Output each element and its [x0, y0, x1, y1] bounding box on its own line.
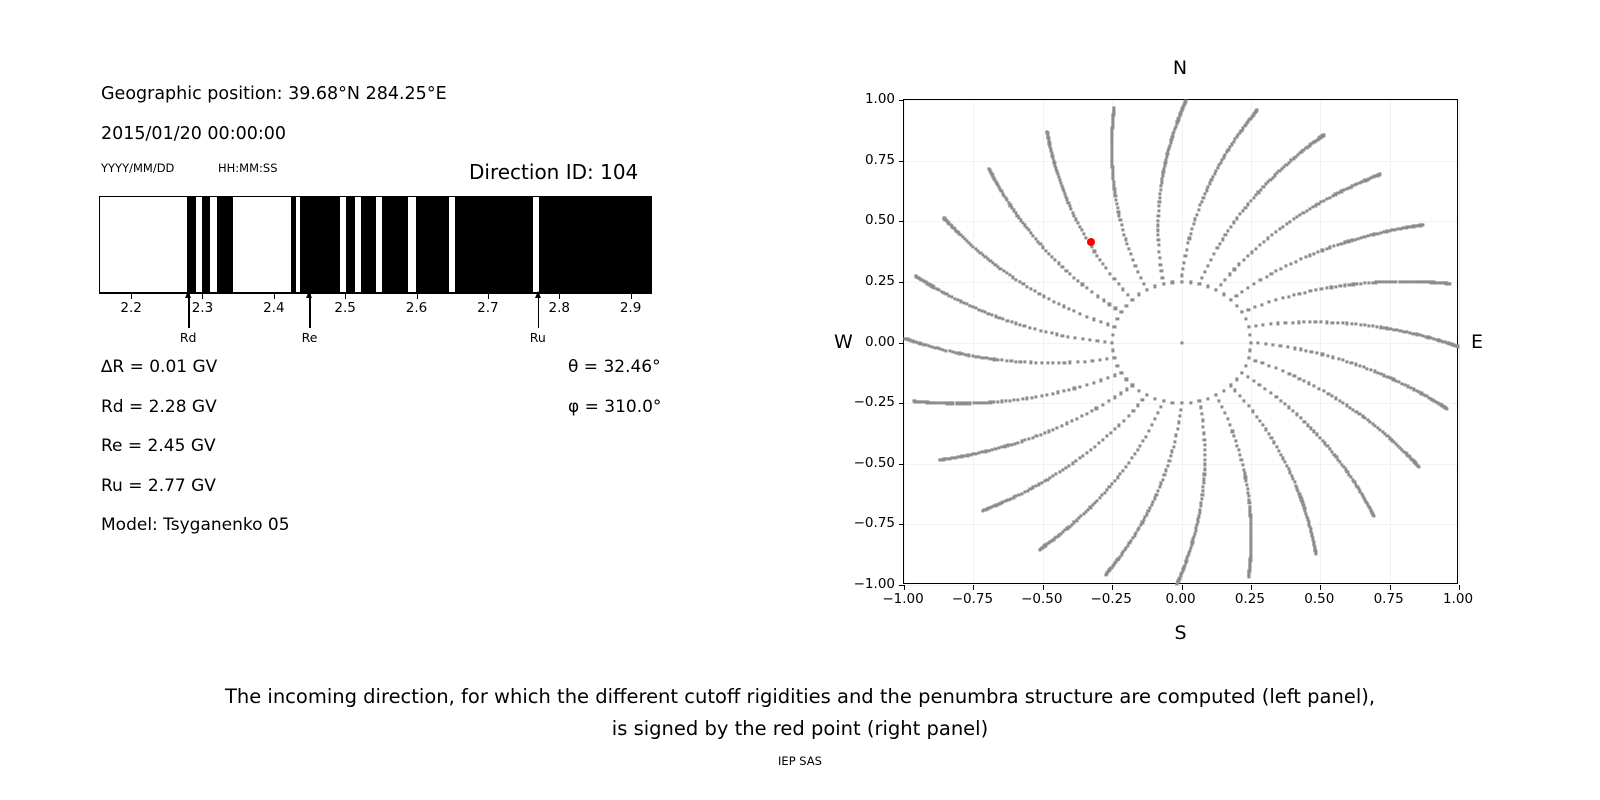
scatter-point: [1111, 174, 1114, 177]
scatter-point: [1360, 282, 1363, 285]
scatter-point: [1125, 304, 1128, 307]
scatter-point: [1051, 475, 1054, 478]
scatter-point: [1075, 459, 1078, 462]
scatter-point: [1020, 440, 1023, 443]
scatter-point: [1246, 254, 1249, 257]
scatter-point: [1320, 288, 1323, 291]
scatter-point: [1247, 286, 1250, 289]
scatter-point: [1223, 278, 1226, 281]
scatter-point: [1172, 445, 1175, 448]
scatter-point: [1163, 164, 1166, 167]
scatter-point: [1175, 434, 1178, 437]
scatter-point: [1421, 224, 1424, 227]
scatter-point: [1202, 482, 1205, 485]
scatter-point: [1120, 371, 1123, 374]
scatter-point: [1155, 493, 1158, 496]
scatter-point: [1168, 459, 1171, 462]
scatter-point: [1141, 440, 1144, 443]
scatter-point: [1111, 482, 1114, 485]
x-axis-tick: [1390, 585, 1391, 590]
scatter-point: [1182, 267, 1185, 270]
scatter-point: [1303, 291, 1306, 294]
scatter-point: [1078, 225, 1081, 228]
scatter-point: [1240, 371, 1243, 374]
x-axis-tick: [1112, 585, 1113, 590]
gridline-horizontal: [904, 161, 1457, 162]
scatter-point: [943, 402, 946, 405]
scatter-point: [1110, 147, 1113, 150]
scatter-point: [1252, 379, 1255, 382]
scatter-point: [1334, 397, 1337, 400]
scatter-point: [987, 312, 990, 315]
axis-tick: [488, 293, 489, 299]
scatter-point: [1201, 276, 1204, 279]
scatter-point: [1216, 247, 1219, 250]
scatter-point: [1176, 582, 1179, 585]
scatter-point: [1050, 332, 1053, 335]
scatter-point: [1076, 360, 1079, 363]
penumbra-band: [382, 197, 407, 292]
gridline-vertical: [973, 100, 974, 583]
scatter-point: [1249, 341, 1252, 344]
scatter-point: [1019, 360, 1022, 363]
scatter-point: [1076, 417, 1079, 420]
scatter-point: [1023, 490, 1026, 493]
scatter-point: [1247, 308, 1250, 311]
scatter-point: [955, 402, 958, 405]
scatter-point: [1254, 247, 1257, 250]
scatter-point: [1078, 457, 1081, 460]
scatter-point: [1201, 419, 1204, 422]
scatter-point: [1223, 411, 1226, 414]
axis-tick-label: 2.4: [263, 300, 284, 316]
scatter-point: [1203, 468, 1206, 471]
scatter-point: [1067, 201, 1070, 204]
scatter-point: [1015, 278, 1018, 281]
scatter-point: [1268, 301, 1271, 304]
scatter-point: [1004, 399, 1007, 402]
scatter-point: [1154, 418, 1157, 421]
scatter-point: [1125, 378, 1128, 381]
scatter-point: [962, 301, 965, 304]
scatter-point: [1160, 184, 1163, 187]
scatter-point: [1016, 441, 1019, 444]
scatter-point: [1171, 281, 1174, 284]
scatter-point: [1270, 272, 1273, 275]
scatter-point: [1080, 229, 1083, 232]
scatter-point: [1222, 293, 1225, 296]
scatter-point: [1071, 419, 1074, 422]
scatter-point: [1038, 292, 1041, 295]
scatter-point: [1247, 357, 1250, 360]
scatter-canvas: [904, 100, 1457, 583]
axis-tick: [202, 293, 203, 299]
scatter-point: [1205, 189, 1208, 192]
scatter-point: [1234, 439, 1237, 442]
gridline-vertical: [904, 100, 905, 583]
scatter-point: [1275, 270, 1278, 273]
scatter-point: [1101, 403, 1104, 406]
scatter-point: [1096, 254, 1099, 257]
gridline-horizontal: [904, 464, 1457, 465]
scatter-point: [1233, 221, 1236, 224]
arrow-up-icon: [185, 291, 191, 298]
scatter-point: [1055, 473, 1058, 476]
scatter-point: [1103, 340, 1106, 343]
scatter-point: [1233, 434, 1236, 437]
scatter-point: [1056, 426, 1059, 429]
scatter-point: [1299, 416, 1302, 419]
x-axis-tick-label: 0.00: [1165, 591, 1195, 607]
scatter-point: [1020, 492, 1023, 495]
scatter-point: [1197, 208, 1200, 211]
scatter-point: [1346, 322, 1349, 325]
scatter-point: [1448, 282, 1451, 285]
scatter-point: [1275, 396, 1278, 399]
x-axis-tick: [1459, 585, 1460, 590]
scatter-point: [1021, 397, 1024, 400]
time-format-hint: HH:MM:SS: [218, 161, 278, 175]
scatter-point: [1264, 342, 1267, 345]
scatter-point: [975, 402, 978, 405]
penumbra-band: [455, 197, 533, 292]
scatter-point: [1055, 333, 1058, 336]
scatter-point: [1162, 399, 1165, 402]
scatter-point: [1237, 449, 1240, 452]
scatter-point: [1099, 320, 1102, 323]
scatter-point: [1027, 437, 1030, 440]
scatter-point: [1208, 182, 1211, 185]
scatter-point: [1229, 384, 1232, 387]
scatter-point: [1203, 443, 1206, 446]
scatter-point: [1235, 294, 1238, 297]
y-axis-tick-label: −1.00: [847, 576, 895, 592]
scatter-point: [1350, 322, 1353, 325]
scatter-point: [1113, 357, 1116, 360]
scatter-point: [1304, 349, 1307, 352]
scatter-point: [1092, 381, 1095, 384]
scatter-point: [1043, 431, 1046, 434]
scatter-point: [1262, 240, 1265, 243]
scatter-point: [1375, 325, 1378, 328]
scatter-point: [1109, 272, 1112, 275]
scatter-point: [1189, 281, 1192, 284]
scatter-point: [1068, 361, 1071, 364]
scatter-point: [1113, 187, 1116, 190]
scatter-point: [1314, 552, 1317, 555]
scatter-point: [1188, 237, 1191, 240]
scatter-point: [1206, 285, 1209, 288]
axis-tick-label: 2.7: [477, 300, 498, 316]
parameter-line: Rd = 2.28 GV: [101, 397, 217, 417]
scatter-point: [1083, 360, 1086, 363]
scatter-point: [1247, 404, 1250, 407]
arrow-label: Ru: [530, 330, 546, 345]
scatter-point: [1038, 548, 1041, 551]
scatter-point: [1184, 254, 1187, 257]
scatter-point: [1198, 282, 1201, 285]
scatter-point: [1203, 458, 1206, 461]
scatter-point: [933, 346, 936, 349]
scatter-point: [1047, 430, 1050, 433]
axis-tick: [631, 293, 632, 299]
scatter-point: [1156, 489, 1159, 492]
scatter-point: [1213, 172, 1216, 175]
scatter-point: [1253, 282, 1256, 285]
scatter-point: [1258, 383, 1261, 386]
gridline-horizontal: [904, 585, 1457, 586]
scatter-point: [1057, 391, 1060, 394]
scatter-point: [1218, 242, 1221, 245]
figure-caption: The incoming direction, for which the di…: [0, 681, 1600, 745]
scatter-point: [1007, 444, 1010, 447]
scatter-point: [1273, 441, 1276, 444]
scatter-point: [1111, 168, 1114, 171]
scatter-point: [1096, 339, 1099, 342]
scatter-point: [1221, 405, 1224, 408]
scatter-point: [1341, 359, 1344, 362]
scatter-point: [962, 402, 965, 405]
scatter-point: [1082, 454, 1085, 457]
scatter-point: [964, 353, 967, 356]
scatter-point: [1157, 239, 1160, 242]
scatter-point: [1085, 452, 1088, 455]
scatter-point: [1267, 432, 1270, 435]
scatter-point: [1346, 360, 1349, 363]
scatter-point: [1169, 141, 1172, 144]
parameter-line: ∆R = 0.01 GV: [101, 357, 217, 377]
scatter-point: [1249, 349, 1252, 352]
scatter-point: [1157, 412, 1160, 415]
x-axis-tick: [1251, 585, 1252, 590]
scatter-point: [1029, 361, 1032, 364]
y-axis-tick-label: −0.25: [847, 394, 895, 410]
scatter-point: [1091, 290, 1094, 293]
scatter-point: [1238, 453, 1241, 456]
scatter-point: [994, 315, 997, 318]
scatter-point: [1254, 359, 1257, 362]
scatter-point: [985, 357, 988, 360]
scatter-point: [1227, 229, 1230, 232]
scatter-point: [1114, 194, 1117, 197]
scatter-point: [1315, 352, 1318, 355]
scatter-point: [1275, 445, 1278, 448]
scatter-point: [1268, 364, 1271, 367]
axis-tick: [274, 293, 275, 299]
scatter-point: [965, 402, 968, 405]
scatter-point: [1119, 392, 1122, 395]
scatter-point: [1005, 359, 1008, 362]
scatter-point: [1116, 364, 1119, 367]
y-axis-tick: [899, 161, 904, 162]
scatter-point: [1129, 252, 1132, 255]
scatter-point: [1137, 270, 1140, 273]
scatter-point: [1200, 200, 1203, 203]
scatter-point: [1060, 184, 1063, 187]
axis-tick-label: 2.2: [120, 300, 141, 316]
scatter-point: [1233, 268, 1236, 271]
scatter-point: [1295, 413, 1298, 416]
scatter-point: [1076, 221, 1079, 224]
scatter-point: [1299, 258, 1302, 261]
scatter-point: [1317, 387, 1320, 390]
scatter-point: [1145, 288, 1148, 291]
scatter-point: [1051, 392, 1054, 395]
scatter-point: [1093, 250, 1096, 253]
scatter-point: [966, 454, 969, 457]
scatter-point: [1012, 399, 1015, 402]
scatter-point: [1023, 361, 1026, 364]
scatter-point: [1161, 276, 1164, 279]
scatter-point: [969, 453, 972, 456]
y-axis-tick: [899, 403, 904, 404]
scatter-point: [1113, 277, 1116, 280]
scatter-point: [1013, 442, 1016, 445]
scatter-point: [1320, 321, 1323, 324]
scatter-point: [1266, 237, 1269, 240]
scatter-point: [1127, 414, 1130, 417]
scatter-point: [1191, 227, 1194, 230]
scatter-point: [1165, 469, 1168, 472]
scatter-point: [1221, 238, 1224, 241]
parameter-line: Model: Tsyganenko 05: [101, 515, 290, 535]
date-format-hint: YYYY/MM/DD: [101, 161, 174, 175]
scatter-point: [1215, 288, 1218, 291]
scatter-point: [1050, 255, 1053, 258]
penumbra-band: [202, 197, 209, 292]
scatter-point: [1206, 397, 1209, 400]
scatter-point: [1162, 170, 1165, 173]
scatter-point: [1044, 249, 1047, 252]
caption-line-1: The incoming direction, for which the di…: [0, 681, 1600, 713]
x-axis-tick: [1320, 585, 1321, 590]
scatter-point: [1326, 354, 1329, 357]
scatter-point: [940, 402, 943, 405]
scatter-point: [1022, 283, 1025, 286]
scatter-point: [1113, 396, 1116, 399]
scatter-point: [1145, 393, 1148, 396]
scatter-point: [977, 308, 980, 311]
scatter-point: [1094, 445, 1097, 448]
parameter-line: Re = 2.45 GV: [101, 436, 216, 456]
scatter-point: [1104, 573, 1107, 576]
scatter-point: [1372, 514, 1375, 517]
scatter-point: [1111, 333, 1114, 336]
scatter-point: [1231, 430, 1234, 433]
scatter-point: [1331, 321, 1334, 324]
y-axis-tick-label: 0.00: [847, 334, 895, 350]
scatter-point: [1147, 429, 1150, 432]
compass-south-label: S: [903, 622, 1458, 644]
scatter-point: [1112, 177, 1115, 180]
scatter-point: [1314, 321, 1317, 324]
scatter-point: [1111, 349, 1114, 352]
scatter-point: [1044, 330, 1047, 333]
scatter-point: [1203, 438, 1206, 441]
scatter-point: [1061, 187, 1064, 190]
scatter-point: [1226, 417, 1229, 420]
scatter-point: [975, 452, 978, 455]
scatter-point: [1293, 347, 1296, 350]
scatter-point: [1153, 397, 1156, 400]
scatter-point: [1276, 322, 1279, 325]
scatter-point: [1209, 258, 1212, 261]
scatter-point: [1046, 130, 1049, 133]
scatter-point: [1202, 432, 1205, 435]
scatter-point: [1040, 481, 1043, 484]
scatter-point: [1359, 323, 1362, 326]
scatter-point: [1059, 181, 1062, 184]
y-axis-tick-label: −0.75: [847, 515, 895, 531]
scatter-point: [1003, 445, 1006, 448]
scatter-point: [1303, 321, 1306, 324]
scatter-point: [996, 400, 999, 403]
scatter-point: [1002, 269, 1005, 272]
scatter-point: [1363, 324, 1366, 327]
scatter-point: [1261, 424, 1264, 427]
scatter-point: [1247, 575, 1250, 578]
scatter-point: [951, 350, 954, 353]
scatter-point: [1138, 293, 1141, 296]
scatter-point: [1061, 424, 1064, 427]
scatter-point: [1325, 321, 1328, 324]
scatter-point: [1203, 448, 1206, 451]
scatter-point: [1194, 218, 1197, 221]
scatter-point: [1131, 298, 1134, 301]
axis-tick-label: 2.3: [192, 300, 213, 316]
scatter-point: [1298, 377, 1301, 380]
scatter-point: [1167, 150, 1170, 153]
scatter-point: [1229, 298, 1232, 301]
scatter-point: [1312, 252, 1315, 255]
scatter-point: [1114, 307, 1117, 310]
scatter-point: [989, 357, 992, 360]
axis-tick: [417, 293, 418, 299]
scatter-point: [1005, 272, 1008, 275]
scatter-point: [1265, 275, 1268, 278]
scatter-point: [1008, 399, 1011, 402]
scatter-point: [1180, 402, 1183, 405]
axis-tick-label: 2.6: [406, 300, 427, 316]
scatter-point: [1244, 364, 1247, 367]
scatter-point: [1310, 350, 1313, 353]
scatter-point: [1354, 363, 1357, 366]
scatter-point: [987, 449, 990, 452]
penumbra-axis: 2.22.32.42.52.62.72.82.9RdReRu: [99, 293, 652, 353]
scatter-point: [1183, 261, 1186, 264]
scatter-point: [1101, 262, 1104, 265]
scatter-point: [1014, 322, 1017, 325]
scatter-point: [1037, 483, 1040, 486]
scatter-point: [1303, 420, 1306, 423]
scatter-point: [1251, 410, 1254, 413]
scatter-point: [1339, 284, 1342, 287]
scatter-point: [1090, 245, 1093, 248]
scatter-point: [1008, 274, 1011, 277]
angle-parameter-line: φ = 310.0°: [568, 397, 661, 417]
scatter-point: [1224, 234, 1227, 237]
scatter-point: [1104, 267, 1107, 270]
scatter-point: [1185, 248, 1188, 251]
scatter-point: [1074, 336, 1077, 339]
scatter-point: [1269, 323, 1272, 326]
scatter-point: [1331, 395, 1334, 398]
angle-parameter-line: θ = 32.46°: [568, 357, 661, 377]
scatter-point: [1332, 356, 1335, 359]
scatter-point: [979, 401, 982, 404]
scatter-point: [1259, 188, 1262, 191]
scatter-point: [1113, 191, 1116, 194]
